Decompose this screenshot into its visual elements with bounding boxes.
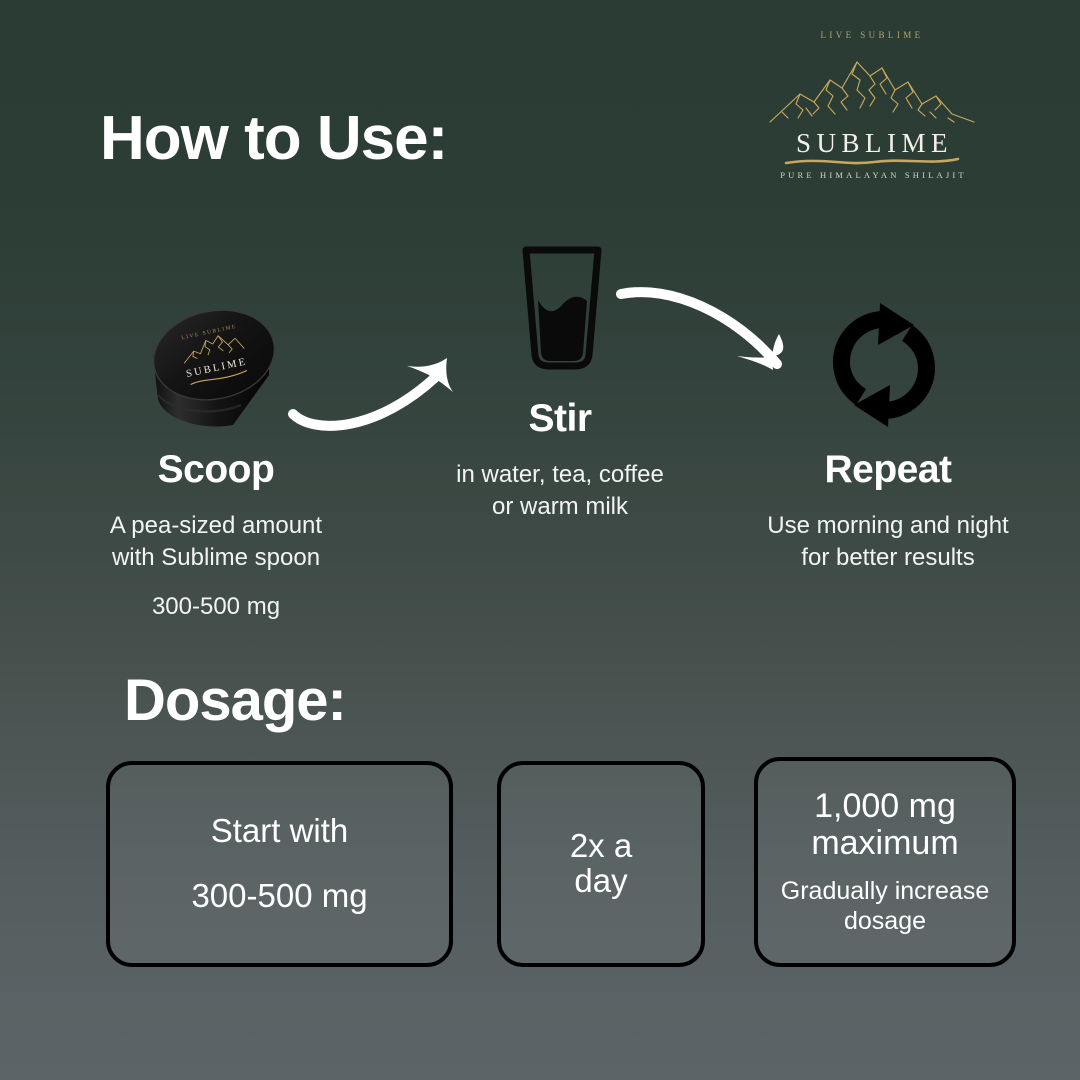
- dosage-maximum-note: Gradually increase dosage: [781, 876, 989, 936]
- dosage-frequency-line1: 2x a: [570, 829, 632, 864]
- logo-swoosh-divider: [784, 156, 960, 168]
- step-stir: Stir in water, tea, coffee or warm milk: [420, 398, 700, 524]
- step-scoop-title: Scoop: [56, 449, 376, 492]
- step-stir-desc-line2: or warm milk: [420, 491, 700, 523]
- step-stir-desc-line1: in water, tea, coffee: [420, 459, 700, 491]
- step-stir-description: in water, tea, coffee or warm milk: [420, 459, 700, 524]
- repeat-cycle-icon: [820, 303, 948, 427]
- step-repeat-desc-line2: for better results: [728, 542, 1048, 574]
- step-repeat-desc-line1: Use morning and night: [728, 510, 1048, 542]
- section-title-dosage: Dosage:: [124, 667, 346, 734]
- dosage-maximum-line1: 1,000 mg: [814, 788, 956, 825]
- dosage-maximum-note-line1: Gradually increase: [781, 876, 989, 906]
- dosage-box-start: Start with 300-500 mg: [106, 761, 453, 967]
- step-scoop-desc-line2: with Sublime spoon: [56, 542, 376, 574]
- drinking-glass-icon: [513, 243, 611, 371]
- step-stir-title: Stir: [420, 398, 700, 441]
- dosage-start-line2: 300-500 mg: [191, 879, 367, 914]
- step-repeat-description: Use morning and night for better results: [728, 510, 1048, 575]
- step-repeat: Repeat Use morning and night for better …: [728, 449, 1048, 575]
- brand-name: SUBLIME: [762, 128, 982, 159]
- dosage-box-frequency: 2x a day: [497, 761, 705, 967]
- step-scoop-desc-line1: A pea-sized amount: [56, 510, 376, 542]
- how-to-use-infographic: LIVE SUBLIME SUBLIME PURE HIMA: [0, 0, 1080, 1080]
- dosage-start-line1: Start with: [211, 814, 349, 849]
- dosage-maximum-note-line2: dosage: [781, 906, 989, 936]
- mountain-range-icon: [762, 46, 982, 128]
- step-scoop-description: A pea-sized amount with Sublime spoon: [56, 510, 376, 575]
- dosage-frequency-line2: day: [574, 864, 627, 899]
- step-scoop-amount: 300-500 mg: [56, 593, 376, 621]
- step-repeat-title: Repeat: [728, 449, 1048, 492]
- brand-tagline-top: LIVE SUBLIME: [762, 30, 982, 40]
- dosage-maximum-line2: maximum: [811, 825, 958, 862]
- brand-tagline-bottom: PURE HIMALAYAN SHILAJIT: [762, 170, 982, 180]
- shilajit-jar-image: LIVE SUBLIME SUBLIME: [141, 303, 289, 436]
- step-scoop: Scoop A pea-sized amount with Sublime sp…: [56, 449, 376, 621]
- arrow-stir-to-repeat-icon: [611, 268, 823, 382]
- page-title-how-to-use: How to Use:: [100, 103, 447, 174]
- brand-logo: LIVE SUBLIME SUBLIME PURE HIMA: [762, 24, 982, 184]
- dosage-box-maximum: 1,000 mg maximum Gradually increase dosa…: [754, 757, 1016, 967]
